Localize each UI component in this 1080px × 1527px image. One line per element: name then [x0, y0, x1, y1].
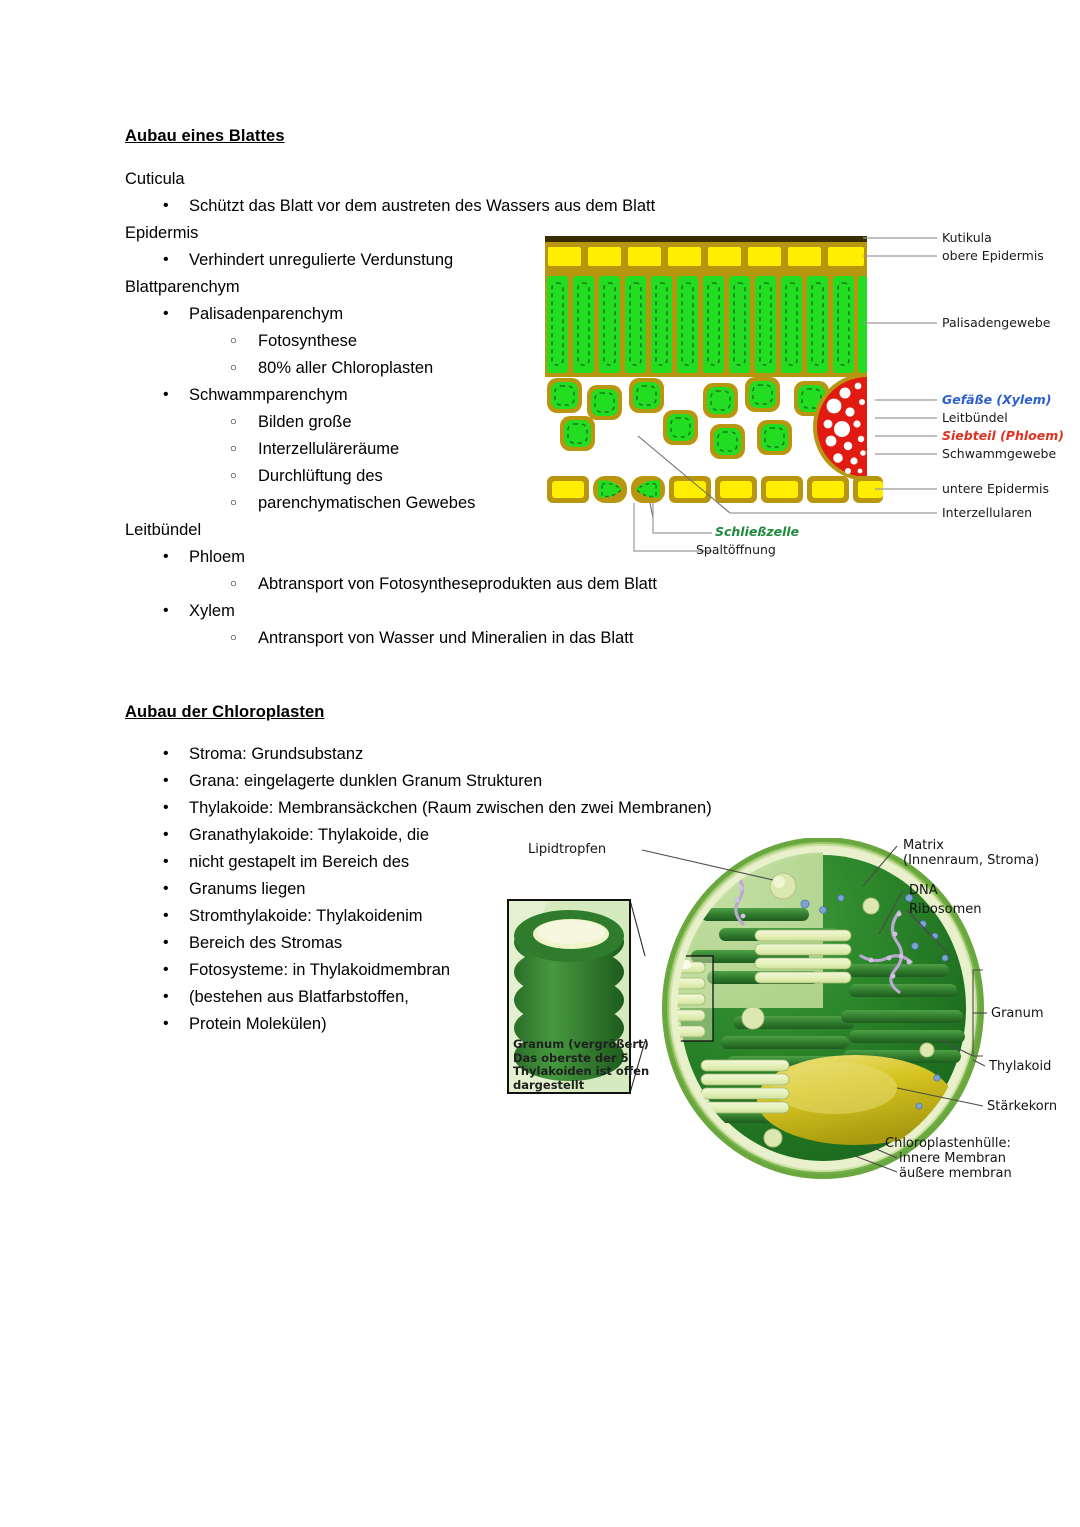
leaf-cross-section-diagram: Kutikula obere Epidermis Palisadengewebe… [545, 228, 885, 518]
leaf-label-leitbuendel: Leitbündel [942, 411, 1008, 425]
leaf-label-kutikula: Kutikula [942, 231, 992, 245]
term-cuticula: Cuticula [125, 166, 745, 193]
list-item: Stroma: Grundsubstanz [125, 741, 745, 768]
leaf-label-schwammgewebe: Schwammgewebe [942, 447, 1056, 461]
leaf-label-siebteil-phloem: Siebteil (Phloem) [942, 429, 1064, 443]
list-item: Antransport von Wasser und Mineralien in… [125, 625, 745, 652]
spacer [125, 145, 745, 166]
list-item: Xylem [125, 598, 745, 625]
chloroplast-label-huelle-line2: innere Membran [899, 1151, 1006, 1166]
leaf-label-schliesszelle: Schließzelle [715, 525, 799, 539]
chloroplast-label-huelle-line3: äußere membran [899, 1166, 1012, 1181]
spacer [125, 720, 745, 741]
leaf-label-interzellularen: Interzellularen [942, 506, 1032, 520]
chloroplast-label-thylakoid: Thylakoid [989, 1059, 1051, 1074]
leaf-label-untere-epidermis: untere Epidermis [942, 482, 1049, 496]
chloroplast-label-ribosomen: Ribosomen [909, 902, 981, 917]
list-item: Grana: eingelagerte dunklen Granum Struk… [125, 768, 745, 795]
chloroplast-label-matrix-line1: Matrix [903, 838, 944, 853]
leaf-label-palisadengewebe: Palisadengewebe [942, 316, 1050, 330]
chloroplast-label-staerkekorn: Stärkekorn [987, 1099, 1057, 1114]
leaf-label-obere-epidermis: obere Epidermis [942, 249, 1044, 263]
section-heading-leaf: Aubau eines Blattes [125, 128, 745, 145]
leaf-label-spaltoeffnung: Spaltöffnung [696, 543, 776, 557]
section-heading-chloroplast: Aubau der Chloroplasten [125, 704, 745, 721]
granum-inset-caption: Granum (vergrößert) Das oberste der 5 Th… [513, 1038, 649, 1092]
chloroplast-diagram: Lipidtropfen Matrix (Innenraum, Stroma) … [505, 838, 1080, 1183]
chloroplast-label-lipidtropfen: Lipidtropfen [528, 842, 606, 857]
list-item: Thylakoide: Membransäckchen (Raum zwisch… [125, 795, 745, 822]
list-item: Abtransport von Fotosyntheseprodukten au… [125, 571, 745, 598]
spacer [125, 652, 745, 704]
chloroplast-label-matrix-line2: (Innenraum, Stroma) [903, 853, 1039, 868]
bullet-list-cuticula: Schützt das Blatt vor dem austreten des … [125, 193, 745, 220]
chloroplast-label-huelle-line1: Chloroplastenhülle: [885, 1136, 1011, 1151]
leaf-label-leader-lines [545, 228, 885, 518]
document-page: Aubau eines Blattes Cuticula Schützt das… [0, 0, 1080, 1527]
list-item: Schützt das Blatt vor dem austreten des … [125, 193, 745, 220]
chloroplast-label-granum: Granum [991, 1006, 1044, 1021]
chloroplast-label-dna: DNA [909, 883, 938, 898]
leaf-label-gefaesse-xylem: Gefäße (Xylem) [942, 393, 1051, 407]
